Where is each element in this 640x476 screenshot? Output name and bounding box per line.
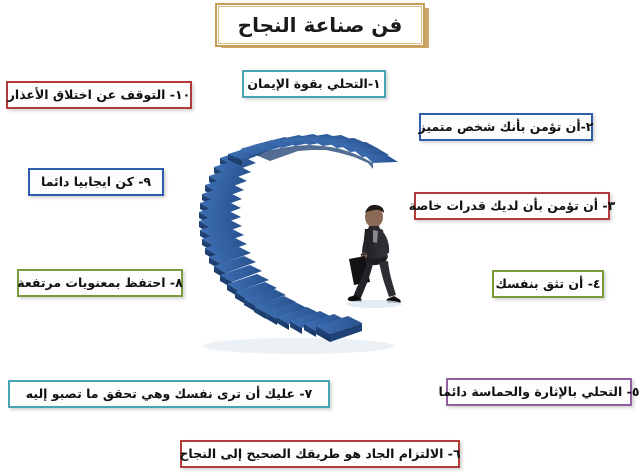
title-inner-frame: فن صناعة النجاح <box>218 6 422 44</box>
page-title: فن صناعة النجاح <box>238 13 403 37</box>
principle-label: ٣- أن تؤمن بأن لديك قدرات خاصة <box>409 199 616 213</box>
principle-box-6[interactable]: ٦- الالتزام الجاد هو طريقك الصحيح إلى ال… <box>180 440 460 468</box>
principle-box-4[interactable]: ٤- أن تثق بنفسك <box>492 270 604 298</box>
principle-box-2[interactable]: ٢-أن تؤمن بأنك شخص متميز <box>419 113 593 141</box>
principle-label: ٢-أن تؤمن بأنك شخص متميز <box>419 120 594 134</box>
principle-box-1[interactable]: ١-التحلي بقوة الإيمان <box>242 70 386 98</box>
page-title-container: فن صناعة النجاح <box>215 3 431 49</box>
principle-label: ٤- أن تثق بنفسك <box>495 277 600 291</box>
staircase-illustration <box>178 118 418 358</box>
principle-label: ٨- احتفظ بمعنويات مرتفعة <box>17 276 183 290</box>
title-frame: فن صناعة النجاح <box>215 3 425 47</box>
principle-box-3[interactable]: ٣- أن تؤمن بأن لديك قدرات خاصة <box>414 192 610 220</box>
principle-label: ٥- التحلي بالإثارة والحماسة دائما <box>439 385 640 399</box>
principle-box-5[interactable]: ٥- التحلي بالإثارة والحماسة دائما <box>446 378 632 406</box>
infographic-canvas: فن صناعة النجاح <box>0 0 640 476</box>
principle-box-7[interactable]: ٧- عليك أن ترى نفسك وهي تحقق ما تصبو إلي… <box>8 380 330 408</box>
principle-label: ٧- عليك أن ترى نفسك وهي تحقق ما تصبو إلي… <box>26 387 312 401</box>
principle-box-10[interactable]: ١٠- التوقف عن اختلاق الأعذار <box>6 81 192 109</box>
principle-label: ٩- كن ايجابيا دائما <box>41 175 151 189</box>
principle-box-8[interactable]: ٨- احتفظ بمعنويات مرتفعة <box>17 269 183 297</box>
principle-label: ١٠- التوقف عن اختلاق الأعذار <box>8 88 191 102</box>
principle-label: ١-التحلي بقوة الإيمان <box>247 77 380 91</box>
ground-shadow <box>202 338 394 354</box>
principle-label: ٦- الالتزام الجاد هو طريقك الصحيح إلى ال… <box>179 447 460 461</box>
businessman-figure <box>346 205 402 308</box>
principle-box-9[interactable]: ٩- كن ايجابيا دائما <box>28 168 164 196</box>
spiral-staircase-icon <box>178 118 418 358</box>
